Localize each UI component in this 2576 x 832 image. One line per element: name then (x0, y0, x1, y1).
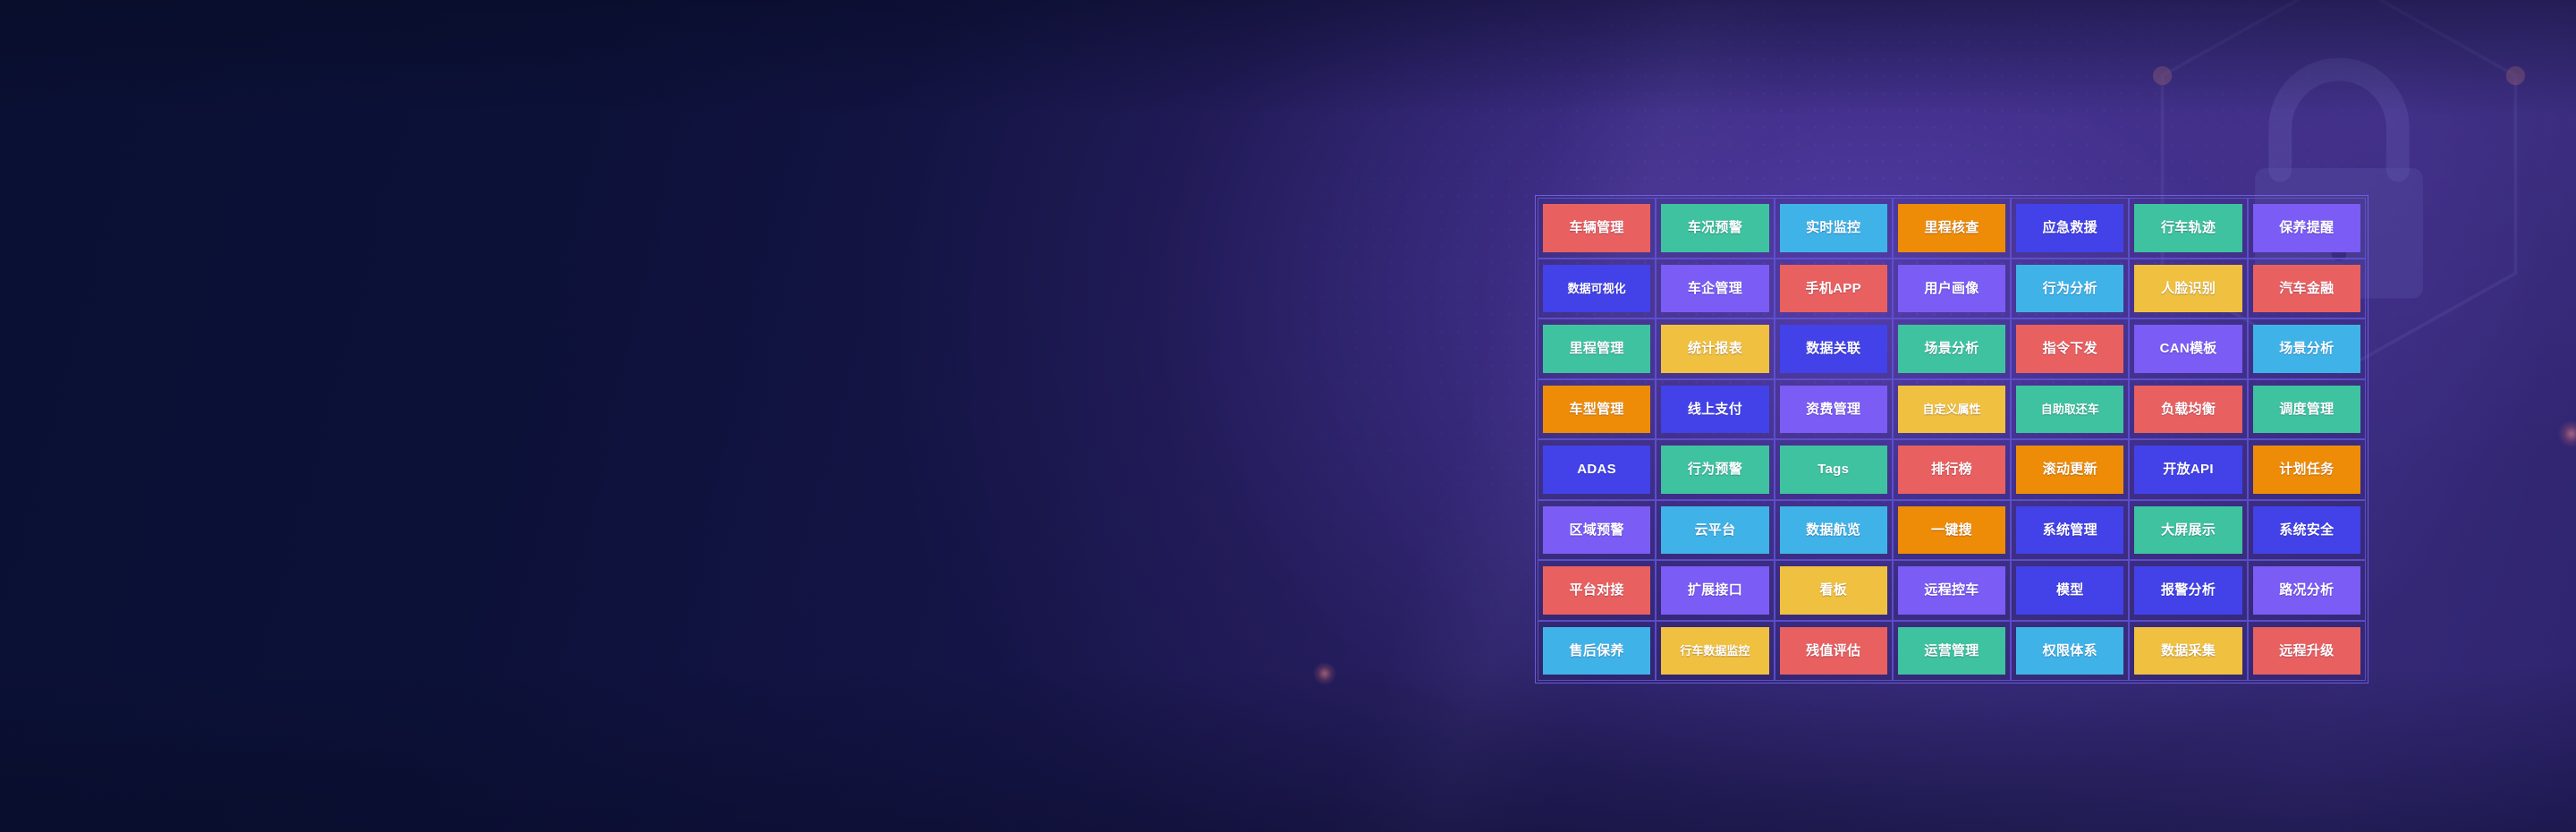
tag-cell[interactable]: 场景分析 (2248, 318, 2366, 379)
tag-cell[interactable]: 人脸识别 (2129, 259, 2247, 319)
tag-cell[interactable]: 自助取还车 (2011, 379, 2129, 440)
tag-label: 资费管理 (1780, 386, 1887, 434)
tag-cell[interactable]: CAN模板 (2129, 318, 2247, 379)
tag-cell[interactable]: 里程管理 (1538, 318, 1656, 379)
tag-cell[interactable]: 手机APP (1775, 259, 1893, 319)
tag-cell[interactable]: 实时监控 (1775, 198, 1893, 259)
tag-label: 系统管理 (2016, 506, 2123, 555)
tag-label: 行为分析 (2016, 265, 2123, 313)
tag-label: 行车数据监控 (1661, 627, 1768, 675)
tag-cell[interactable]: 模型 (2011, 560, 2129, 621)
tag-cell[interactable]: 远程控车 (1893, 560, 2011, 621)
tag-cell[interactable]: 行车轨迹 (2129, 198, 2247, 259)
tag-label: 保养提醒 (2253, 204, 2360, 252)
tag-cell[interactable]: 残值评估 (1775, 621, 1893, 682)
tag-label: 应急救援 (2016, 204, 2123, 252)
tag-cell[interactable]: 排行榜 (1893, 439, 2011, 500)
tag-label: 平台对接 (1543, 566, 1650, 615)
tag-label: 实时监控 (1780, 204, 1887, 252)
tag-cell[interactable]: 自定义属性 (1893, 379, 2011, 440)
tag-label: 里程核查 (1898, 204, 2005, 252)
tag-label: 扩展接口 (1661, 566, 1768, 615)
tag-label: 远程升级 (2253, 627, 2360, 675)
tag-label: 车况预警 (1661, 204, 1768, 252)
tag-cell[interactable]: 系统安全 (2248, 500, 2366, 561)
tag-cell[interactable]: 负载均衡 (2129, 379, 2247, 440)
tag-cell[interactable]: 开放API (2129, 439, 2247, 500)
tag-label: CAN模板 (2134, 325, 2241, 373)
tag-cell[interactable]: 售后保养 (1538, 621, 1656, 682)
tag-label: 运营管理 (1898, 627, 2005, 675)
tag-cell[interactable]: 车企管理 (1656, 259, 1774, 319)
tag-cell[interactable]: 车辆管理 (1538, 198, 1656, 259)
tag-cell[interactable]: 用户画像 (1893, 259, 2011, 319)
tag-label: 车辆管理 (1543, 204, 1650, 252)
tag-cell[interactable]: 行为分析 (2011, 259, 2129, 319)
tag-label: 自定义属性 (1898, 386, 2005, 434)
tag-cell[interactable]: 行为预警 (1656, 439, 1774, 500)
tag-cell[interactable]: 平台对接 (1538, 560, 1656, 621)
tag-cell[interactable]: 调度管理 (2248, 379, 2366, 440)
tag-label: 手机APP (1780, 265, 1887, 313)
tag-label: 数据关联 (1780, 325, 1887, 373)
tag-label: 车企管理 (1661, 265, 1768, 313)
tag-label: 人脸识别 (2134, 265, 2241, 313)
tag-cell[interactable]: 资费管理 (1775, 379, 1893, 440)
tag-cell[interactable]: 云平台 (1656, 500, 1774, 561)
tag-cell[interactable]: 数据关联 (1775, 318, 1893, 379)
tag-label: 里程管理 (1543, 325, 1650, 373)
tag-label: 车型管理 (1543, 386, 1650, 434)
tag-label: 大屏展示 (2134, 506, 2241, 555)
tag-cell[interactable]: 看板 (1775, 560, 1893, 621)
tag-label: 统计报表 (1661, 325, 1768, 373)
tag-label: 开放API (2134, 446, 2241, 494)
tag-cell[interactable]: Tags (1775, 439, 1893, 500)
tag-label: 模型 (2016, 566, 2123, 615)
tag-cell[interactable]: 区域预警 (1538, 500, 1656, 561)
tag-label: 数据航览 (1780, 506, 1887, 555)
tag-label: 用户画像 (1898, 265, 2005, 313)
tag-label: 自助取还车 (2016, 386, 2123, 434)
tag-cell[interactable]: 运营管理 (1893, 621, 2011, 682)
tag-label: 计划任务 (2253, 446, 2360, 494)
tag-cell[interactable]: ADAS (1538, 439, 1656, 500)
tag-label: 看板 (1780, 566, 1887, 615)
tag-cell[interactable]: 指令下发 (2011, 318, 2129, 379)
tag-label: 云平台 (1661, 506, 1768, 555)
tag-cell[interactable]: 车型管理 (1538, 379, 1656, 440)
tag-cell[interactable]: 里程核查 (1893, 198, 2011, 259)
tag-cell[interactable]: 扩展接口 (1656, 560, 1774, 621)
tag-label: 数据采集 (2134, 627, 2241, 675)
tag-label: 线上支付 (1661, 386, 1768, 434)
tag-label: 场景分析 (2253, 325, 2360, 373)
tag-cell[interactable]: 远程升级 (2248, 621, 2366, 682)
tag-cell[interactable]: 滚动更新 (2011, 439, 2129, 500)
tag-label: 数据可视化 (1543, 265, 1650, 313)
tag-label: 负载均衡 (2134, 386, 2241, 434)
tag-cell[interactable]: 数据采集 (2129, 621, 2247, 682)
tag-label: 系统安全 (2253, 506, 2360, 555)
tag-cell[interactable]: 线上支付 (1656, 379, 1774, 440)
tag-cell[interactable]: 一键搜 (1893, 500, 2011, 561)
tag-label: 报警分析 (2134, 566, 2241, 615)
tag-cell[interactable]: 行车数据监控 (1656, 621, 1774, 682)
tag-label: 排行榜 (1898, 446, 2005, 494)
tag-cell[interactable]: 路况分析 (2248, 560, 2366, 621)
tag-label: 权限体系 (2016, 627, 2123, 675)
tag-label: 区域预警 (1543, 506, 1650, 555)
tag-label: 滚动更新 (2016, 446, 2123, 494)
tag-cell[interactable]: 系统管理 (2011, 500, 2129, 561)
tag-label: 指令下发 (2016, 325, 2123, 373)
tag-label: ADAS (1543, 446, 1650, 494)
tag-label: 行为预警 (1661, 446, 1768, 494)
tag-cell[interactable]: 数据可视化 (1538, 259, 1656, 319)
tag-label: 一键搜 (1898, 506, 2005, 555)
tag-cell[interactable]: 权限体系 (2011, 621, 2129, 682)
tag-cell[interactable]: 统计报表 (1656, 318, 1774, 379)
tag-label: 售后保养 (1543, 627, 1650, 675)
tag-cell[interactable]: 汽车金融 (2248, 259, 2366, 319)
tag-label: 残值评估 (1780, 627, 1887, 675)
tag-cell[interactable]: 数据航览 (1775, 500, 1893, 561)
tag-label: 行车轨迹 (2134, 204, 2241, 252)
tag-cell[interactable]: 计划任务 (2248, 439, 2366, 500)
tag-label: 场景分析 (1898, 325, 2005, 373)
tag-label: 路况分析 (2253, 566, 2360, 615)
tag-cell[interactable]: 保养提醒 (2248, 198, 2366, 259)
tag-label: 调度管理 (2253, 386, 2360, 434)
tag-label: 远程控车 (1898, 566, 2005, 615)
tag-label: Tags (1780, 446, 1887, 494)
tag-cell[interactable]: 车况预警 (1656, 198, 1774, 259)
tag-label: 汽车金融 (2253, 265, 2360, 313)
tag-cell[interactable]: 报警分析 (2129, 560, 2247, 621)
tag-cell[interactable]: 大屏展示 (2129, 500, 2247, 561)
tag-cell[interactable]: 场景分析 (1893, 318, 2011, 379)
feature-tag-grid: 车辆管理车况预警实时监控里程核查应急救援行车轨迹保养提醒数据可视化车企管理手机A… (1535, 195, 2368, 683)
tag-cell[interactable]: 应急救援 (2011, 198, 2129, 259)
